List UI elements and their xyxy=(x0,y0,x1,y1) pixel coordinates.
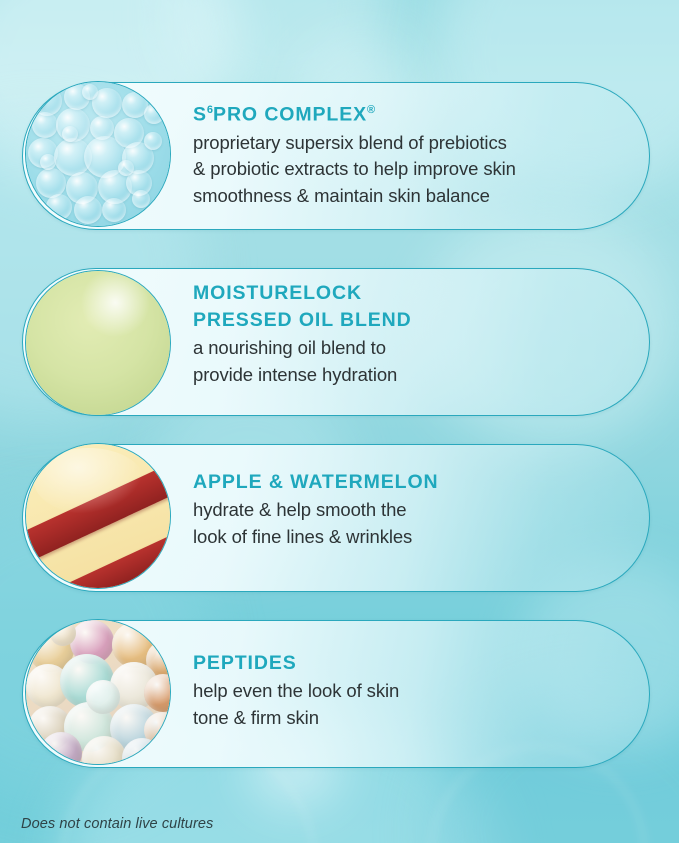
ingredient-body-line: proprietary supersix blend of prebiotics xyxy=(193,130,651,157)
disclaimer-text: Does not contain live cultures xyxy=(21,816,213,832)
ingredient-copy-s6-pro-complex: S6PRO COMPLEX® proprietary supersix blen… xyxy=(193,98,651,209)
bubbles-circle-image xyxy=(25,81,171,227)
peptide-beads-circle-image xyxy=(25,619,171,765)
ingredient-body-line: smoothness & maintain skin balance xyxy=(193,183,651,210)
ingredient-heading: APPLE & WATERMELON xyxy=(193,470,651,495)
ingredient-heading-line-2: PRESSED OIL BLEND xyxy=(193,308,651,333)
ingredient-body-line: look of fine lines & wrinkles xyxy=(193,524,651,551)
registered-trademark-icon: ® xyxy=(367,104,376,116)
heading-prefix: S xyxy=(193,104,207,126)
ingredient-benefits-infographic: S6PRO COMPLEX® proprietary supersix blen… xyxy=(0,0,679,843)
ingredient-heading: PEPTIDES xyxy=(193,651,651,676)
ingredient-body-line: hydrate & help smooth the xyxy=(193,497,651,524)
ingredient-heading: S6PRO COMPLEX® xyxy=(193,98,651,128)
apple-watermelon-circle-image xyxy=(25,443,171,589)
ingredient-copy-moisturelock-pressed-oil-blend: MOISTURELOCK PRESSED OIL BLEND a nourish… xyxy=(193,281,651,388)
ingredient-heading: MOISTURELOCK xyxy=(193,281,651,306)
ingredient-body-line: tone & firm skin xyxy=(193,705,651,732)
ingredient-copy-apple-and-watermelon: APPLE & WATERMELON hydrate & help smooth… xyxy=(193,470,651,550)
ingredient-body-line: provide intense hydration xyxy=(193,362,651,389)
ingredient-body-line: help even the look of skin xyxy=(193,678,651,705)
ingredient-copy-peptides: PEPTIDES help even the look of skin tone… xyxy=(193,651,651,731)
ingredient-body-line: & probiotic extracts to help improve ski… xyxy=(193,156,651,183)
green-sphere-circle-image xyxy=(25,270,171,416)
heading-main: PRO COMPLEX xyxy=(213,104,367,126)
ingredient-body-line: a nourishing oil blend to xyxy=(193,335,651,362)
